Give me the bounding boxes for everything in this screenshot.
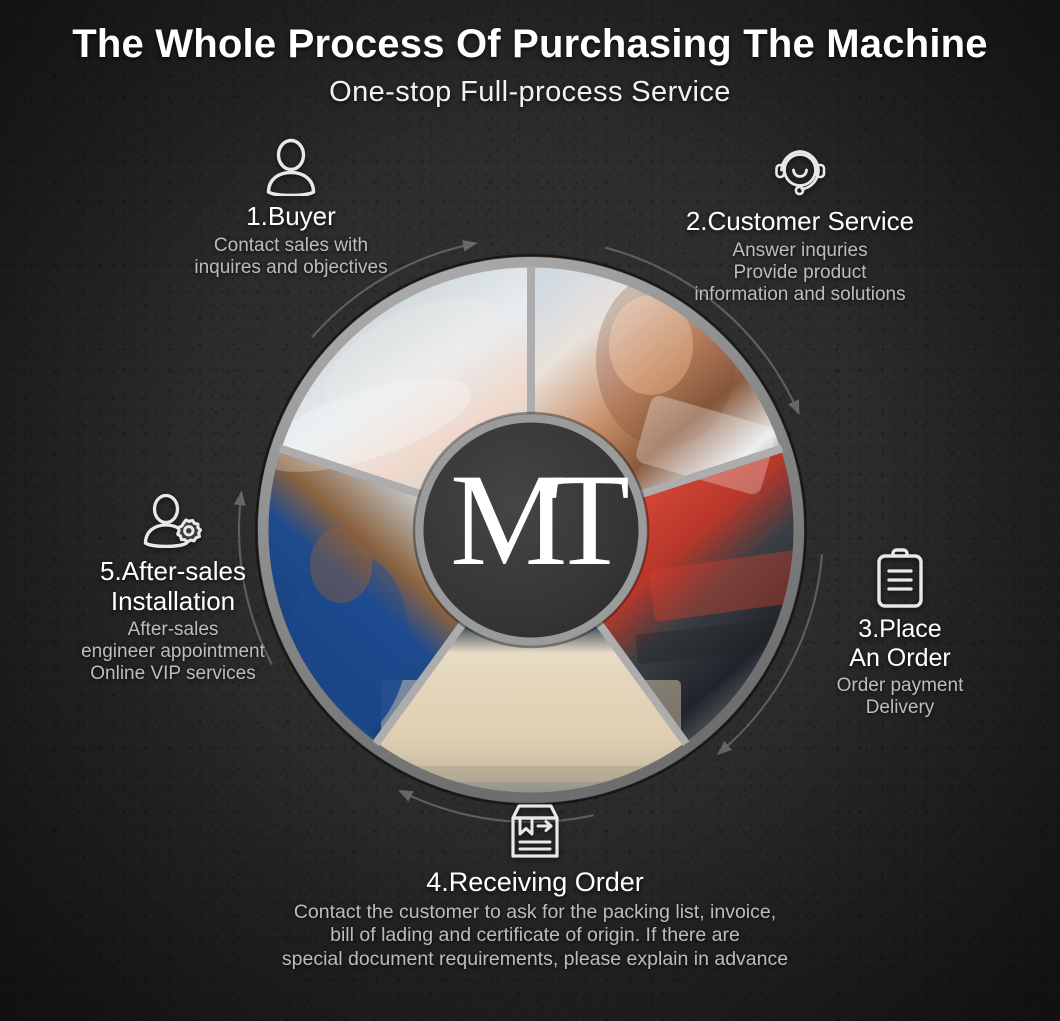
clipboard-icon	[875, 547, 925, 609]
infographic-poster: The Whole Process Of Purchasing The Mach…	[0, 0, 1060, 1021]
step-after-sales-title: 5.After-sales Installation	[48, 557, 298, 616]
step-place-an-order-title: 3.Place An Order	[770, 615, 1030, 672]
mt-monogram-logo: MT	[450, 446, 628, 593]
photo-detail	[310, 527, 372, 603]
step-after-sales-icon-wrap	[48, 495, 298, 557]
page-title: The Whole Process Of Purchasing The Mach…	[0, 22, 1060, 67]
photo-detail	[381, 680, 681, 766]
step-after-sales-desc: After-sales engineer appointment Online …	[48, 619, 298, 685]
header: The Whole Process Of Purchasing The Mach…	[0, 22, 1060, 109]
step-buyer-icon-wrap	[150, 140, 432, 202]
step-buyer[interactable]: 1.Buyer Contact sales with inquires and …	[150, 140, 432, 279]
step-customer-service-desc: Answer inquries Provide product informat…	[640, 240, 960, 306]
step-receiving-order-icon-wrap	[230, 805, 840, 867]
step-customer-service-icon-wrap	[640, 145, 960, 207]
step-receiving-order-desc: Contact the customer to ask for the pack…	[230, 901, 840, 971]
step-after-sales-installation[interactable]: 5.After-sales Installation After-sales e…	[48, 495, 298, 685]
step-customer-service-title: 2.Customer Service	[640, 207, 960, 237]
user-icon	[263, 138, 319, 196]
page-subtitle: One-stop Full-process Service	[0, 76, 1060, 109]
step-place-an-order-icon-wrap	[770, 553, 1030, 615]
step-receiving-order-title: 4.Receiving Order	[230, 867, 840, 898]
user-gear-icon	[142, 493, 204, 551]
step-receiving-order[interactable]: 4.Receiving Order Contact the customer t…	[230, 805, 840, 971]
step-place-an-order-desc: Order payment Delivery	[770, 675, 1030, 719]
step-customer-service[interactable]: 2.Customer Service Answer inquries Provi…	[640, 145, 960, 306]
headset-smiley-icon	[771, 143, 829, 201]
step-place-an-order[interactable]: 3.Place An Order Order payment Delivery	[770, 553, 1030, 719]
package-shipping-icon	[505, 801, 565, 861]
step-buyer-title: 1.Buyer	[150, 202, 432, 232]
step-buyer-desc: Contact sales with inquires and objectiv…	[150, 235, 432, 279]
